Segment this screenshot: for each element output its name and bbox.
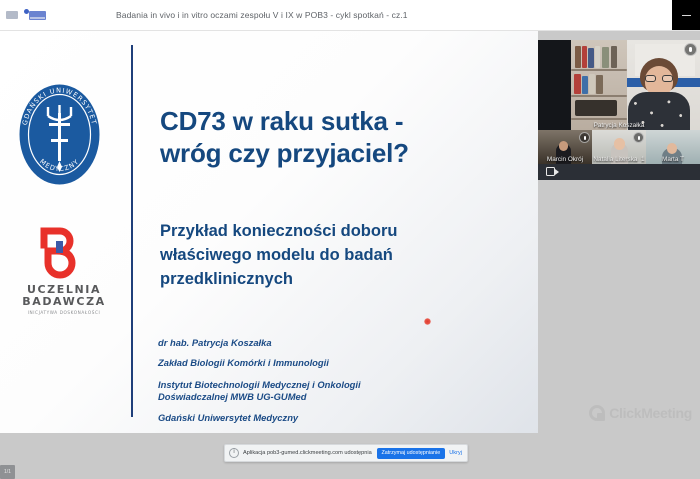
ub-label-line2: BADAWCZA (16, 296, 112, 308)
slide-divider-rule (131, 45, 133, 417)
slide-author-block: dr hab. Patrycja Koszałka Zakład Biologi… (158, 333, 488, 428)
video-toolbar (538, 164, 700, 180)
slide-subtitle-line1: Przykład konieczności doboru (160, 219, 510, 243)
participant-tile-2[interactable]: Natalia Literska_1 (592, 130, 646, 164)
share-message: Aplikacja pob3-gumed.clickmeeting.com ud… (243, 450, 373, 456)
slide-subtitle: Przykład konieczności doboru właściwego … (160, 219, 510, 291)
laser-pointer-dot (424, 318, 431, 325)
author-affiliation-2b: Doświadczalnej MWB UG-GUMed (158, 391, 488, 403)
slide-title-line2: wróg czy przyjaciel? (160, 137, 520, 169)
slide-subtitle-line3: przedklinicznych (160, 267, 510, 291)
clickmeeting-watermark-text: ClickMeeting (609, 405, 692, 421)
author-affiliation-1: Zakład Biologii Komórki i Immunologii (158, 353, 488, 373)
participant-tile-3[interactable]: Marta T (646, 130, 700, 164)
hide-infobar-button[interactable]: Ukryj (449, 450, 463, 456)
stop-sharing-button[interactable]: Zatrzymaj udostępnianie (377, 448, 446, 459)
gumed-seal-logo: GDAŃSKI UNIWERSYTET MEDYCZNY (17, 83, 102, 186)
taskbar-nub-label: 1/1 (0, 465, 15, 479)
video-panel: Patrycja Koszałka Marcin Okrój Natalia L… (538, 40, 700, 180)
presentation-stage: GDAŃSKI UNIWERSYTET MEDYCZNY (0, 31, 700, 450)
bookmark-icon (6, 11, 18, 19)
glasses-icon (645, 75, 673, 82)
app-icon (24, 9, 46, 22)
browser-tab-title: Badania in vivo i in vitro oczami zespoł… (116, 10, 408, 20)
shared-screen-capture: Badania in vivo i in vitro oczami zespoł… (0, 0, 700, 450)
ub-label-line3: INICJATYWA DOSKONAŁOŚCI (16, 310, 112, 315)
main-speaker-name: Patrycja Koszałka (538, 122, 700, 129)
participant-name-1: Marcin Okrój (538, 156, 592, 163)
slide-canvas[interactable]: GDAŃSKI UNIWERSYTET MEDYCZNY (0, 31, 538, 433)
slide-title-line1: CD73 w raku sutka - (160, 105, 520, 137)
slide-subtitle-line2: właściwego modelu do badań (160, 243, 510, 267)
minimize-icon (682, 15, 691, 16)
uczelnia-badawcza-logo: UCZELNIA BADAWCZA INICJATYWA DOSKONAŁOŚC… (16, 223, 112, 315)
taskbar-nub[interactable]: 1/1 (0, 465, 15, 479)
tile-dark-edge (538, 40, 571, 130)
participant-name-2: Natalia Literska_1 (592, 156, 646, 163)
clickmeeting-logo-icon (589, 405, 605, 421)
main-speaker-tile[interactable]: Patrycja Koszałka (538, 40, 700, 130)
minimize-button[interactable] (672, 0, 700, 30)
author-name: dr hab. Patrycja Koszałka (158, 333, 488, 353)
microphone-icon (633, 132, 644, 143)
slide-title: CD73 w raku sutka - wróg czy przyjaciel? (160, 105, 520, 169)
participant-tile-1[interactable]: Marcin Okrój (538, 130, 592, 164)
participant-thumbnails: Marcin Okrój Natalia Literska_1 Marta T (538, 130, 700, 164)
microphone-icon (684, 43, 697, 56)
author-affiliation-2a: Instytut Biotechnologii Medycznej i Onko… (158, 379, 488, 391)
clickmeeting-watermark: ClickMeeting (589, 405, 692, 421)
bookshelf-background (571, 40, 627, 130)
browser-topbar: Badania in vivo i in vitro oczami zespoł… (0, 0, 700, 31)
screen-share-infobar: i Aplikacja pob3-gumed.clickmeeting.com … (224, 444, 468, 462)
author-affiliation-3: Gdański Uniwersytet Medyczny (158, 408, 488, 428)
topbar-icons (0, 9, 116, 22)
participant-name-3: Marta T (646, 156, 700, 163)
speaker-figure (628, 58, 690, 130)
ub-mark-icon (16, 223, 112, 279)
microphone-icon (579, 132, 590, 143)
camera-icon[interactable] (546, 167, 559, 176)
